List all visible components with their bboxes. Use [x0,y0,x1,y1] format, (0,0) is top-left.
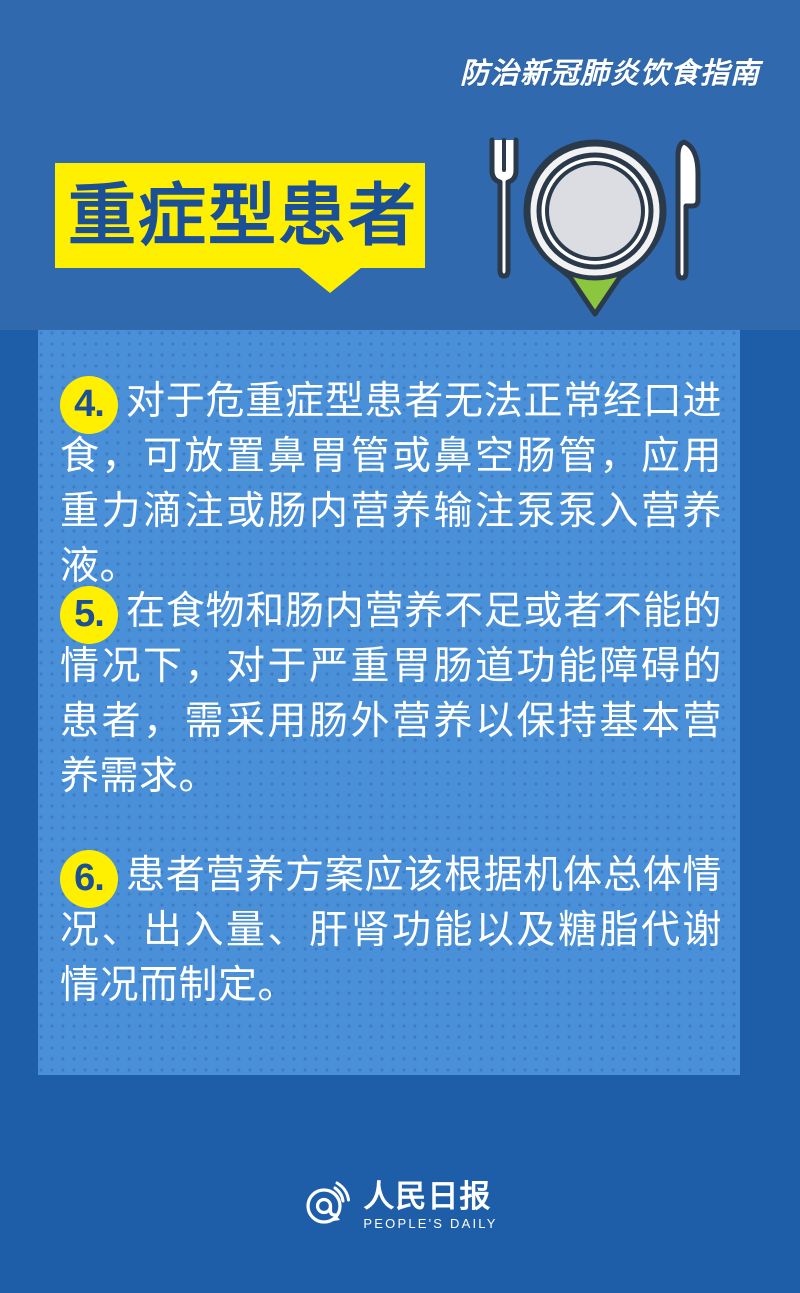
list-item-text: 对于危重症型患者无法正常经口进食，可放置鼻胃管或鼻空肠管，应用重力滴注或肠内营养… [60,374,722,594]
list-item-marker: 5. [60,586,118,644]
list-item-text: 患者营养方案应该根据机体总体情况、出入量、肝肾功能以及糖脂代谢情况而制定。 [60,848,722,1013]
list-item-marker: 6. [60,850,118,908]
fork-icon [492,140,516,276]
banner-title-text: 重症型患者 [68,170,418,262]
list-item: 6. 患者营养方案应该根据机体总体情况、出入量、肝肾功能以及糖脂代谢情况而制定。 [60,848,722,1013]
list-item: 4. 对于危重症型患者无法正常经口进食，可放置鼻胃管或鼻空肠管，应用重力滴注或肠… [60,374,722,594]
title-banner-tail [298,267,362,293]
page-title: 防治新冠肺炎饮食指南 [460,50,760,92]
poster-root: 防治新冠肺炎饮食指南 重症型患者 4. [0,0,800,1293]
at-sign-wifi-icon [302,1180,354,1237]
list-item-text: 在食物和肠内营养不足或者不能的情况下，对于严重胃肠道功能障碍的患者，需采用肠外营… [60,584,722,804]
footer-logo: 人民日报 PEOPLE'S DAILY [0,1168,800,1248]
brand-name-en: PEOPLE'S DAILY [363,1216,497,1232]
brand-name-cn: 人民日报 [363,1180,497,1214]
list-item-marker: 4. [60,376,118,434]
dinnerware-icon-group [470,122,720,332]
plate-pin-icon [526,142,664,314]
list-item: 5. 在食物和肠内营养不足或者不能的情况下，对于严重胃肠道功能障碍的患者，需采用… [60,584,722,804]
knife-icon [678,142,698,278]
content-panel: 4. 对于危重症型患者无法正常经口进食，可放置鼻胃管或鼻空肠管，应用重力滴注或肠… [38,330,740,1075]
